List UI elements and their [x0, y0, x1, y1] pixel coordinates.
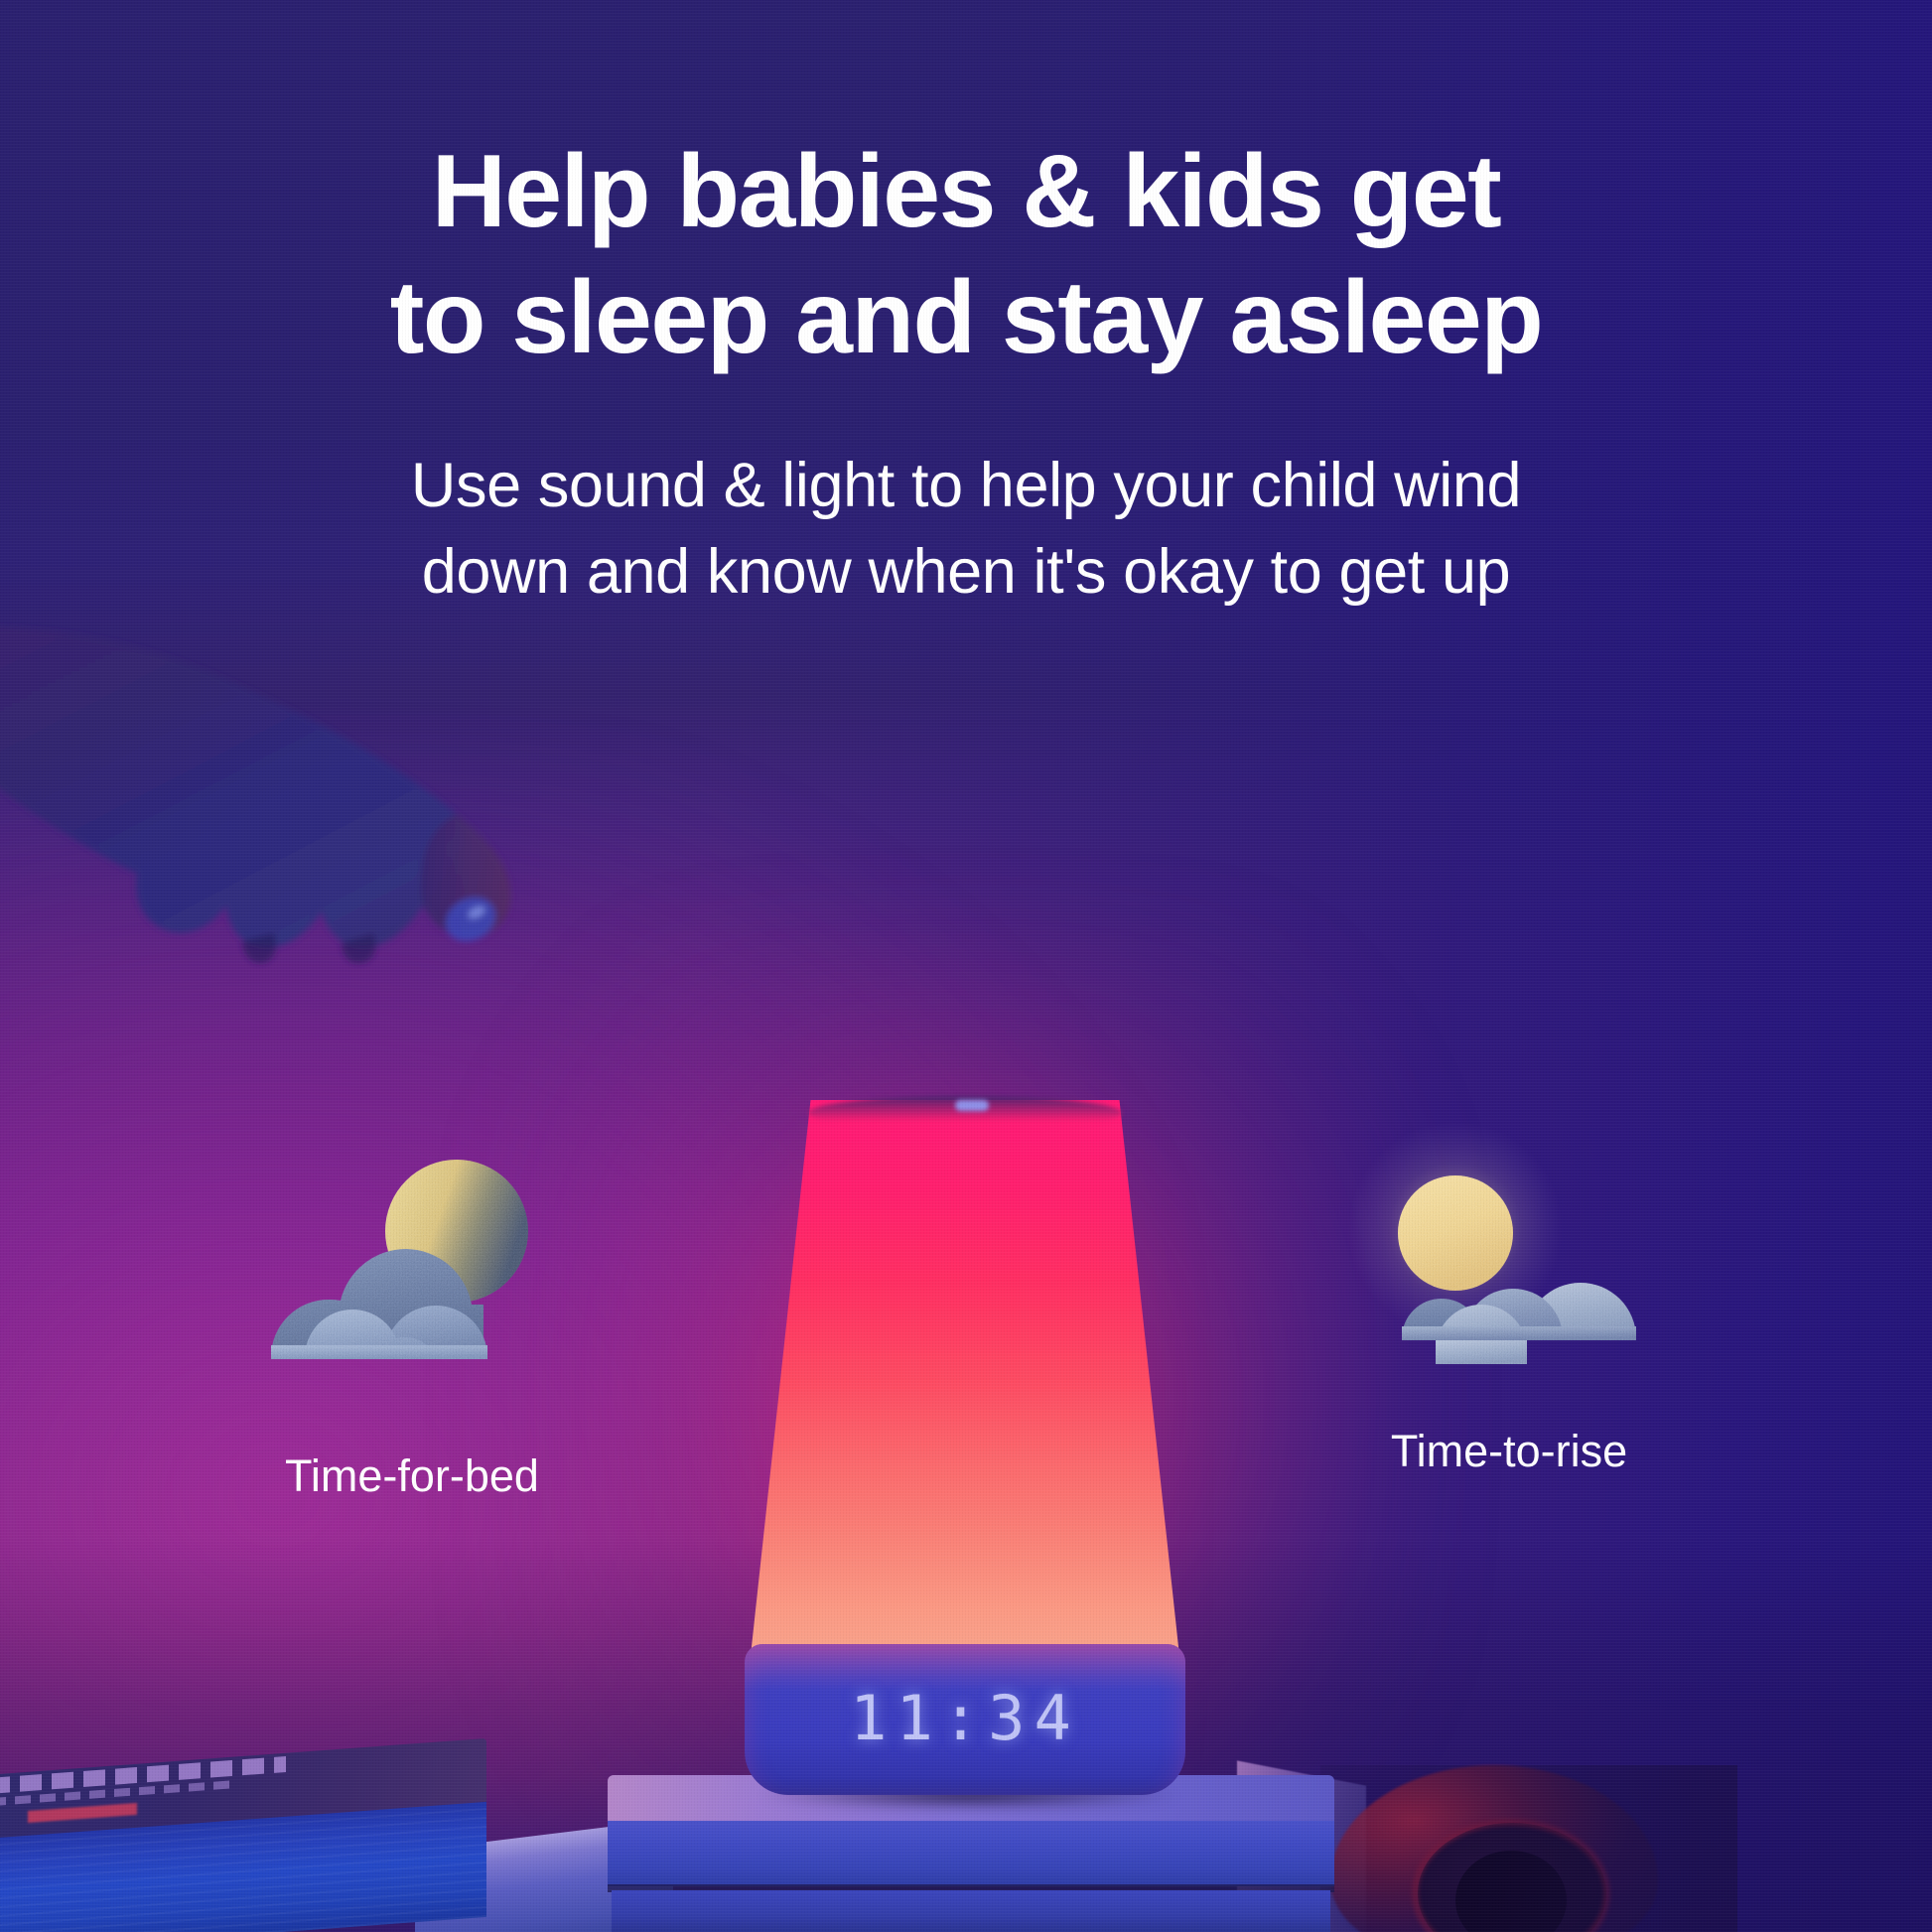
- lamp-base[interactable]: 11:34: [745, 1644, 1185, 1795]
- clock-display: 11:34: [745, 1682, 1185, 1754]
- feature-time-to-rise: Time-to-rise: [1246, 1122, 1772, 1477]
- feature-time-for-bed: Time-for-bed: [149, 1147, 675, 1502]
- nightlight-sound-machine[interactable]: 11:34: [751, 1100, 1179, 1795]
- lamp-glowing-shade[interactable]: [751, 1100, 1179, 1656]
- feature-label-time-for-bed: Time-for-bed: [149, 1450, 675, 1502]
- sun-behind-clouds-icon: [1246, 1122, 1772, 1390]
- plinth-lower-book: [612, 1890, 1330, 1932]
- moon-behind-clouds-icon: [149, 1147, 675, 1415]
- feature-label-time-to-rise: Time-to-rise: [1246, 1426, 1772, 1477]
- promo-image-canvas: Help babies & kids get to sleep and stay…: [0, 0, 1932, 1932]
- hand-reaching-icon: [0, 516, 755, 1211]
- plinth-front-face: [608, 1821, 1334, 1886]
- book-stack-left: [0, 1757, 526, 1932]
- lamp-indicator-light: [955, 1100, 989, 1111]
- headphones-icon: [1320, 1765, 1737, 1932]
